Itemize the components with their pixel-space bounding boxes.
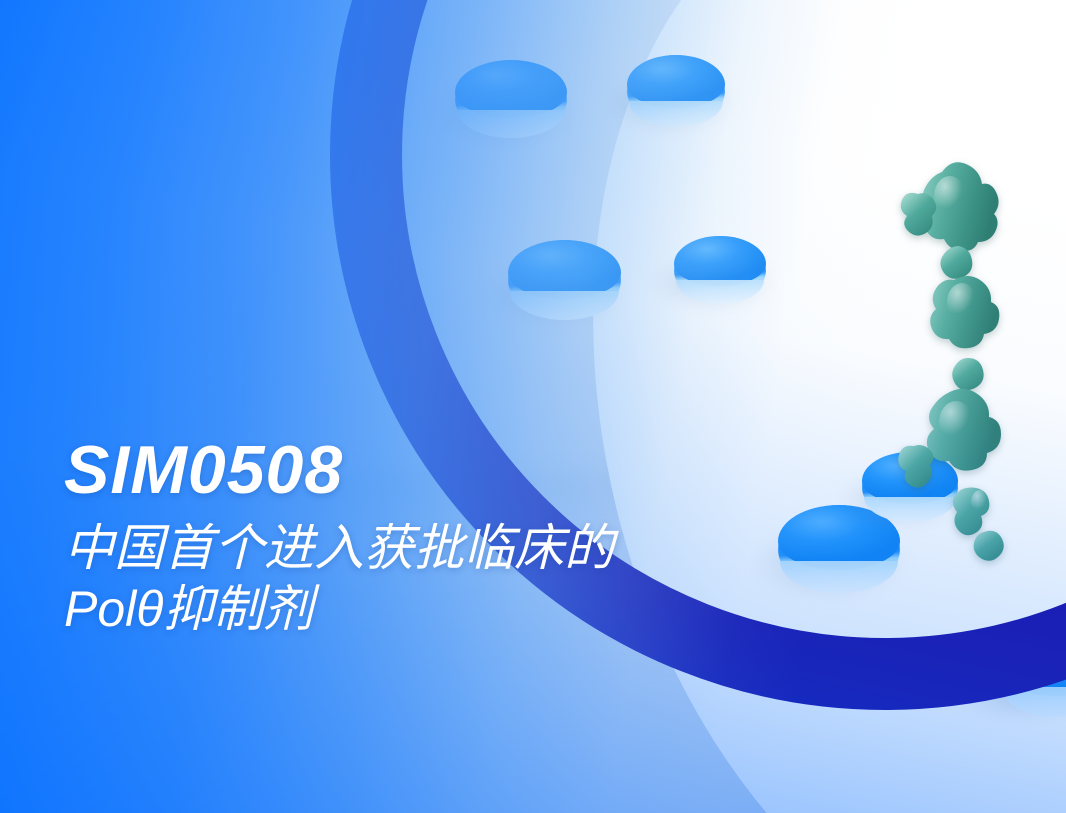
blue-gradient-overlay-secondary xyxy=(0,0,1066,813)
brand-name: SIM0508 xyxy=(64,436,614,504)
tagline-line-2: Polθ抑制剂 xyxy=(64,579,614,640)
sim0508-promo-banner: SIM0508 中国首个进入获批临床的 Polθ抑制剂 xyxy=(0,0,1066,813)
headline-block: SIM0508 中国首个进入获批临床的 Polθ抑制剂 xyxy=(64,436,614,640)
tagline: 中国首个进入获批临床的 Polθ抑制剂 xyxy=(64,518,614,640)
tagline-line-1: 中国首个进入获批临床的 xyxy=(64,518,614,579)
